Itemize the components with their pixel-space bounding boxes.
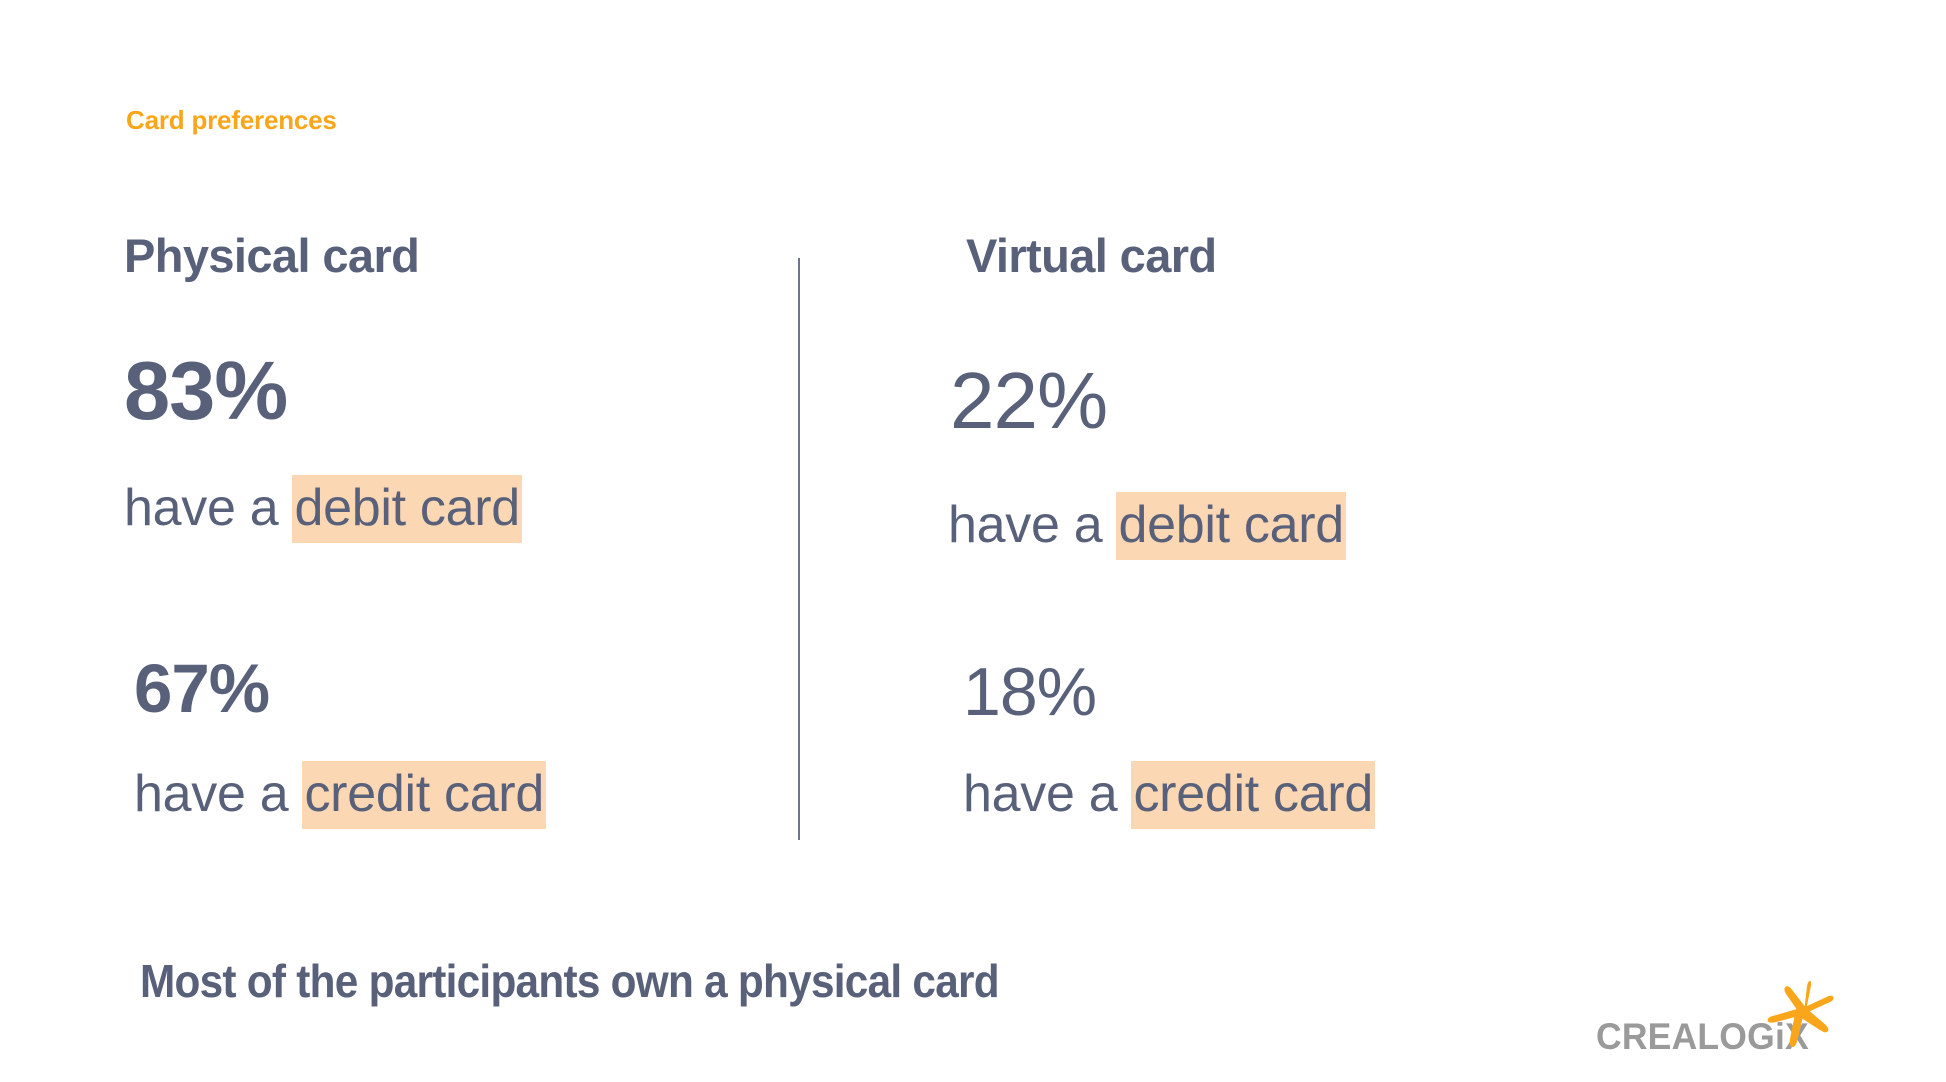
column-title-physical: Physical card xyxy=(124,228,419,283)
stat-prefix: have a xyxy=(963,765,1131,823)
stat-highlight-credit: credit card xyxy=(302,761,545,829)
stat-label-physical-debit: have a debit card xyxy=(124,478,522,538)
stat-value-physical-debit: 83% xyxy=(124,343,287,439)
stat-highlight-debit: debit card xyxy=(292,475,521,543)
star-burst-icon xyxy=(1764,978,1838,1052)
stat-value-virtual-credit: 18% xyxy=(963,653,1096,731)
conclusion-statement: Most of the participants own a physical … xyxy=(140,954,999,1008)
stat-highlight-credit: credit card xyxy=(1131,761,1374,829)
stat-label-virtual-credit: have a credit card xyxy=(963,764,1375,824)
brand-logo: CREALOGiX xyxy=(1596,1000,1846,1060)
column-title-virtual: Virtual card xyxy=(966,228,1217,283)
stat-label-physical-credit: have a credit card xyxy=(134,764,546,824)
stat-highlight-debit: debit card xyxy=(1116,492,1345,560)
stat-prefix: have a xyxy=(948,496,1116,554)
stat-value-physical-credit: 67% xyxy=(134,649,269,728)
stat-prefix: have a xyxy=(134,765,302,823)
column-divider xyxy=(798,258,800,840)
stat-prefix: have a xyxy=(124,479,292,537)
stat-label-virtual-debit: have a debit card xyxy=(948,495,1346,555)
section-kicker: Card preferences xyxy=(126,105,337,136)
slide-canvas: Card preferences Physical card 83% have … xyxy=(0,0,1946,1082)
stat-value-virtual-debit: 22% xyxy=(950,355,1107,447)
